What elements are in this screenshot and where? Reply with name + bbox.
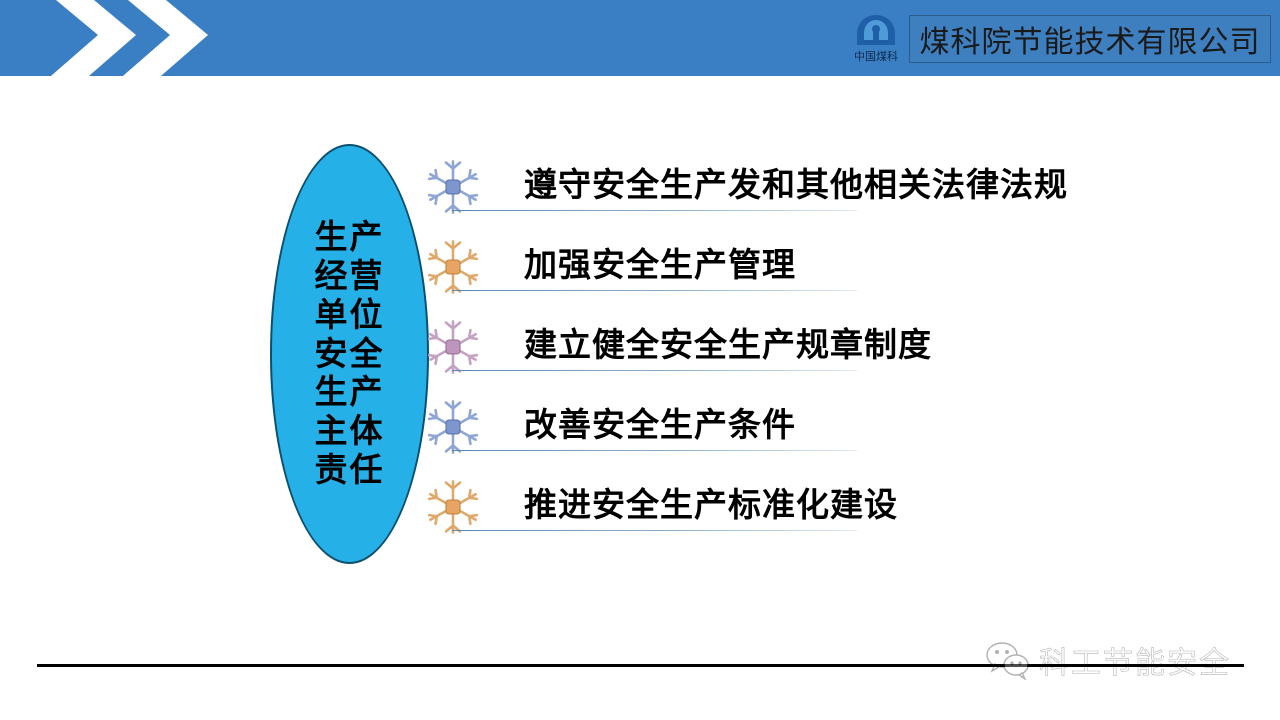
- oval-line: 经营: [315, 257, 385, 296]
- company-name: 煤科院节能技术有限公司: [920, 17, 1261, 61]
- snowflake-icon: [424, 478, 482, 536]
- list-item-underline: [452, 290, 857, 291]
- list-item: 推进安全生产标准化建设: [424, 474, 1124, 554]
- oval-line: 生产: [315, 218, 385, 257]
- list-item-label: 加强安全生产管理: [524, 242, 796, 288]
- china-coal-technology-logo: 中国煤科: [845, 7, 907, 69]
- responsibility-list: 遵守安全生产发和其他相关法律法规 加强安全生产管理: [424, 154, 1124, 554]
- list-item-label: 推进安全生产标准化建设: [524, 482, 898, 528]
- main-topic-oval: 生产 经营 单位 安全 生产 主体 责任: [270, 144, 429, 564]
- list-item-label: 改善安全生产条件: [524, 402, 796, 448]
- snowflake-icon: [424, 318, 482, 376]
- list-item-underline: [452, 210, 857, 211]
- footer-watermark-text: 科工节能安全: [1039, 638, 1231, 682]
- list-item-underline: [452, 530, 857, 531]
- oval-line: 安全: [315, 335, 385, 374]
- list-item-underline: [452, 450, 857, 451]
- oval-line: 责任: [315, 451, 385, 490]
- wechat-icon: [985, 640, 1031, 680]
- double-chevron-right-icon: [38, 0, 218, 76]
- snowflake-icon: [424, 158, 482, 216]
- list-item: 改善安全生产条件: [424, 394, 1124, 474]
- oval-line: 单位: [315, 296, 385, 335]
- company-name-box: 煤科院节能技术有限公司: [909, 15, 1271, 63]
- snowflake-icon: [424, 238, 482, 296]
- list-item-label: 遵守安全生产发和其他相关法律法规: [524, 162, 1068, 208]
- list-item-underline: [452, 370, 857, 371]
- footer-watermark: 科工节能安全: [985, 630, 1255, 690]
- list-item-label: 建立健全安全生产规章制度: [524, 322, 932, 368]
- oval-line: 生产: [315, 373, 385, 412]
- logo-caption: 中国煤科: [854, 49, 898, 63]
- slide-body: 生产 经营 单位 安全 生产 主体 责任 遵守安全生产发和其他相关法律法: [0, 76, 1280, 720]
- slide-header: 中国煤科 煤科院节能技术有限公司: [0, 0, 1280, 76]
- oval-line: 主体: [315, 412, 385, 451]
- list-item: 建立健全安全生产规章制度: [424, 314, 1124, 394]
- list-item: 加强安全生产管理: [424, 234, 1124, 314]
- list-item: 遵守安全生产发和其他相关法律法规: [424, 154, 1124, 234]
- snowflake-icon: [424, 398, 482, 456]
